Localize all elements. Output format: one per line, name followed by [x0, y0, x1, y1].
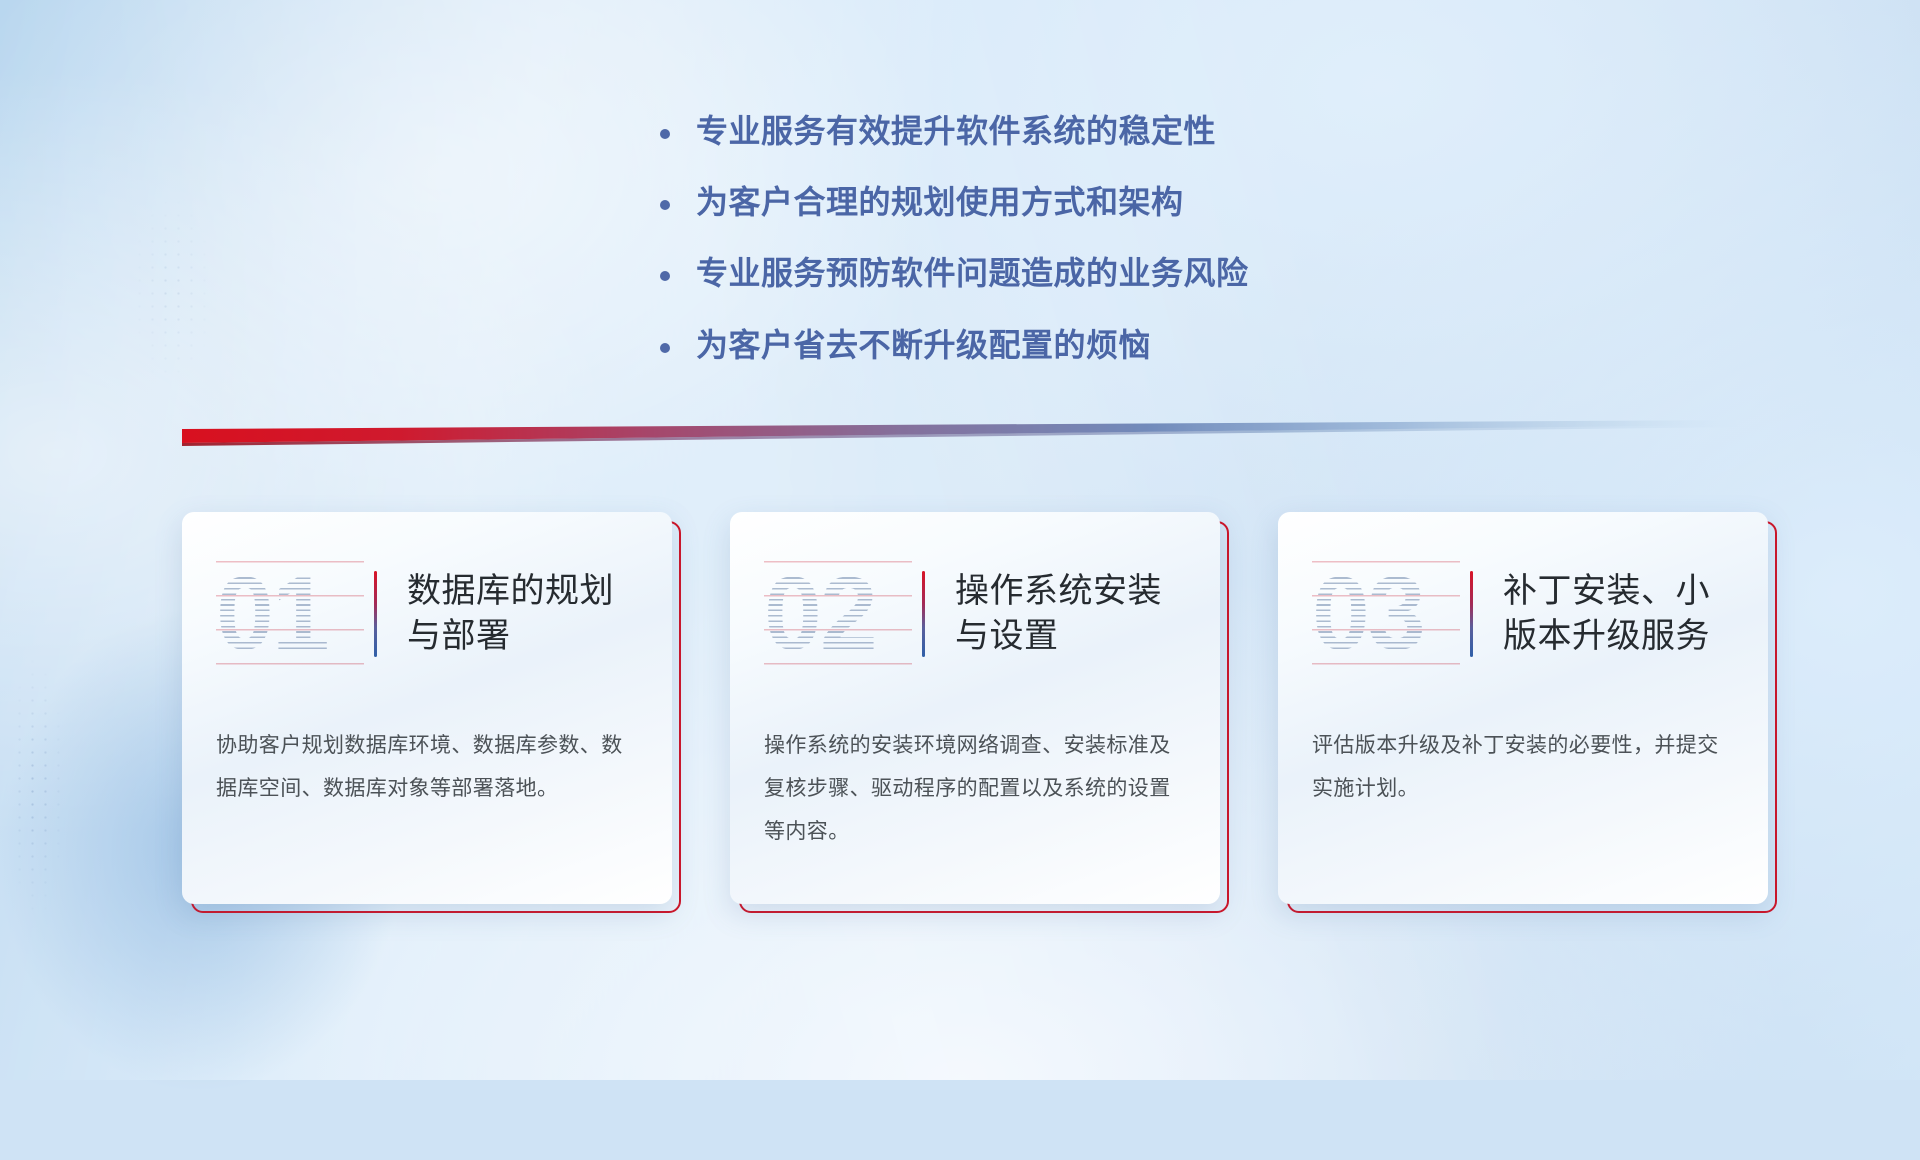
card-surface: 02 操作系统安装 与设置 操作系统的安装环境网络调查、安装标准及复核步骤、驱动…: [730, 512, 1220, 904]
card-accent-bar: [922, 571, 925, 657]
card-header: 02 操作系统安装 与设置: [764, 558, 1186, 670]
benefits-bullet-list: 专业服务有效提升软件系统的稳定性 为客户合理的规划使用方式和架构 专业服务预防软…: [660, 110, 1420, 395]
background-dot-texture-upper: [120, 170, 380, 470]
card-title-line-1: 补丁安装、小: [1503, 569, 1710, 614]
card-accent-bar: [1470, 571, 1473, 657]
card-header: 01 数据库的规划 与部署: [216, 558, 638, 670]
service-card[interactable]: 01 数据库的规划 与部署 协助客户规划数据库环境、数据库参数、数据库空间、数据…: [182, 512, 672, 904]
card-title: 数据库的规划 与部署: [407, 569, 614, 659]
list-item: 专业服务有效提升软件系统的稳定性: [660, 110, 1420, 153]
bullet-dot-icon: [660, 129, 670, 139]
bullet-label: 专业服务有效提升软件系统的稳定性: [696, 110, 1216, 153]
card-title-line-2: 与部署: [407, 614, 614, 659]
card-header: 03 补丁安装、小 版本升级服务: [1312, 558, 1734, 670]
card-surface: 03 补丁安装、小 版本升级服务 评估版本升级及补丁安装的必要性，并提交实施计划…: [1278, 512, 1768, 904]
card-number-text: 02: [764, 561, 912, 667]
service-card[interactable]: 03 补丁安装、小 版本升级服务 评估版本升级及补丁安装的必要性，并提交实施计划…: [1278, 512, 1768, 904]
card-title-line-2: 版本升级服务: [1503, 614, 1710, 659]
service-card[interactable]: 02 操作系统安装 与设置 操作系统的安装环境网络调查、安装标准及复核步骤、驱动…: [730, 512, 1220, 904]
card-number-watermark: 03: [1312, 561, 1460, 667]
card-number-text: 03: [1312, 561, 1460, 667]
bullet-dot-icon: [660, 343, 670, 353]
bullet-dot-icon: [660, 200, 670, 210]
list-item: 专业服务预防软件问题造成的业务风险: [660, 252, 1420, 295]
card-title-line-1: 操作系统安装: [955, 569, 1162, 614]
list-item: 为客户省去不断升级配置的烦恼: [660, 324, 1420, 367]
card-number-watermark: 02: [764, 561, 912, 667]
list-item: 为客户合理的规划使用方式和架构: [660, 181, 1420, 224]
card-number-text: 01: [216, 561, 364, 667]
card-number-watermark: 01: [216, 561, 364, 667]
card-surface: 01 数据库的规划 与部署 协助客户规划数据库环境、数据库参数、数据库空间、数据…: [182, 512, 672, 904]
card-description: 评估版本升级及补丁安装的必要性，并提交实施计划。: [1312, 724, 1734, 810]
bullet-label: 为客户合理的规划使用方式和架构: [696, 181, 1184, 224]
card-title: 补丁安装、小 版本升级服务: [1503, 569, 1710, 659]
bullet-dot-icon: [660, 271, 670, 281]
card-title-line-1: 数据库的规划: [407, 569, 614, 614]
card-description: 协助客户规划数据库环境、数据库参数、数据库空间、数据库对象等部署落地。: [216, 724, 638, 810]
bullet-label: 为客户省去不断升级配置的烦恼: [696, 324, 1151, 367]
service-card-group: 01 数据库的规划 与部署 协助客户规划数据库环境、数据库参数、数据库空间、数据…: [182, 512, 1768, 904]
card-accent-bar: [374, 571, 377, 657]
bullet-label: 专业服务预防软件问题造成的业务风险: [696, 252, 1249, 295]
card-title: 操作系统安装 与设置: [955, 569, 1162, 659]
card-title-line-2: 与设置: [955, 614, 1162, 659]
card-description: 操作系统的安装环境网络调查、安装标准及复核步骤、驱动程序的配置以及系统的设置等内…: [764, 724, 1186, 853]
